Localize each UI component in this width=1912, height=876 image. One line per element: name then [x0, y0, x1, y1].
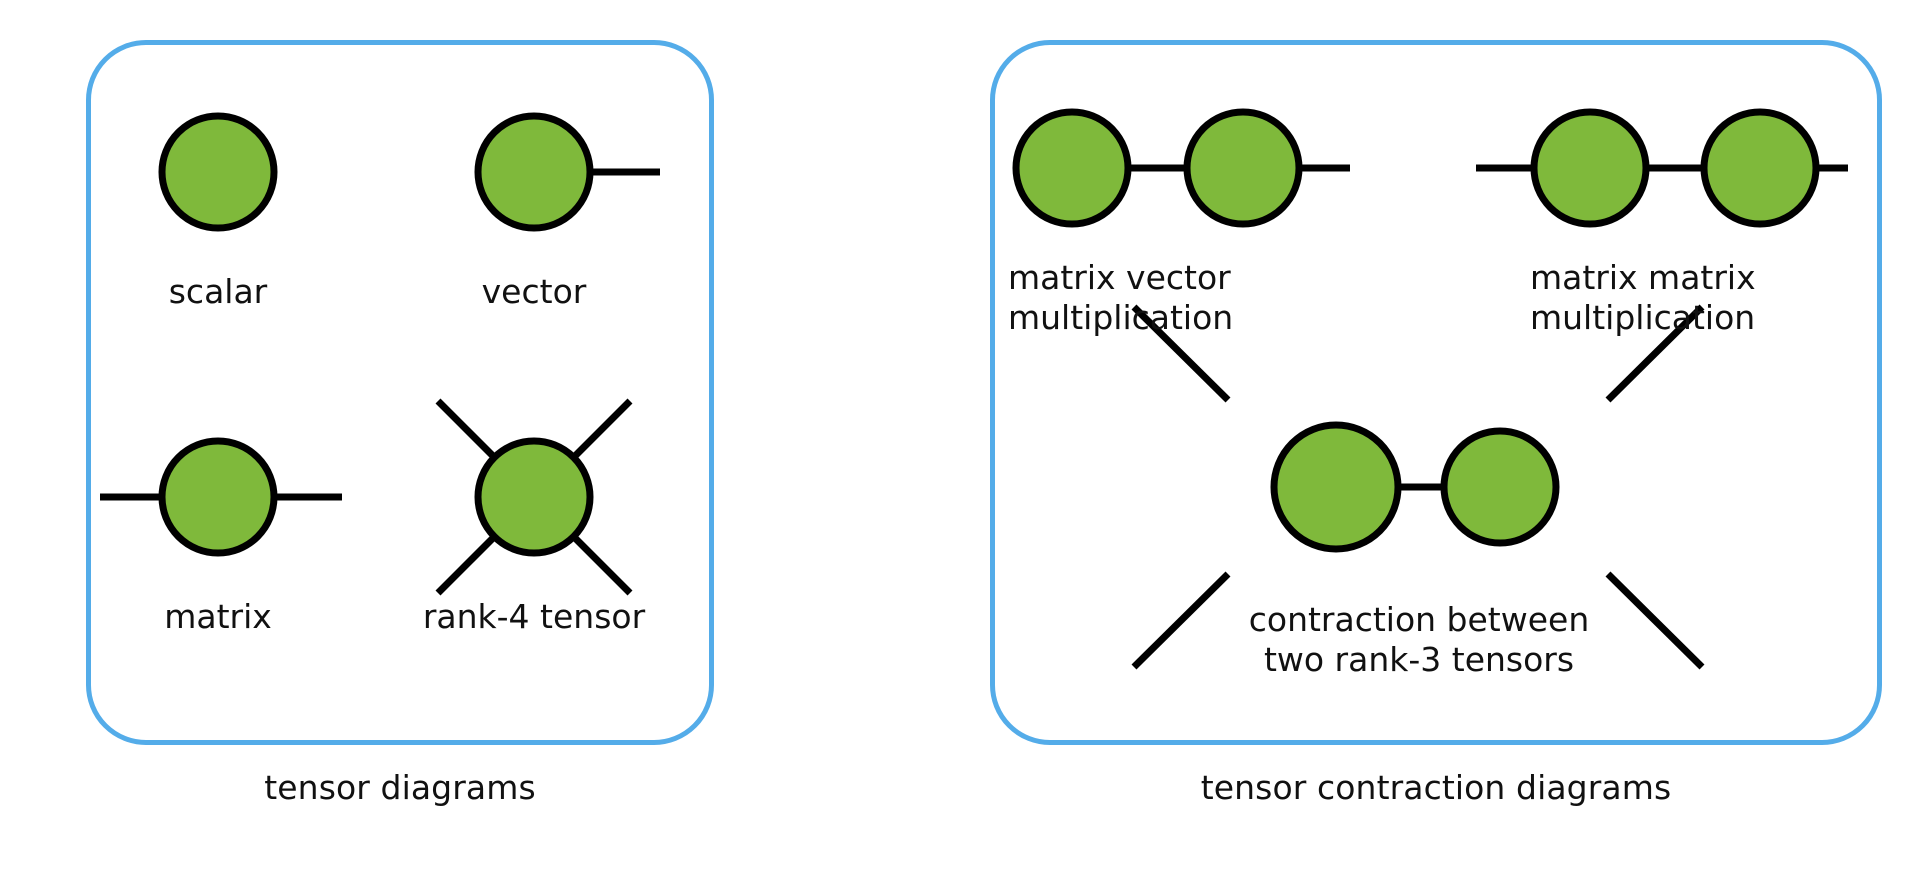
caption-tensor-contraction-diagrams: tensor contraction diagrams	[990, 768, 1882, 807]
figure-canvas: scalar vector matrix rank-4 tensor matri…	[0, 0, 1912, 876]
label-matrix-vector-multiplication: matrix vector multiplication	[1008, 258, 1308, 338]
panel-tensor-diagrams	[86, 40, 714, 745]
label-contraction-two-rank-3-tensors: contraction between two rank-3 tensors	[1184, 600, 1654, 680]
label-matrix: matrix	[68, 597, 368, 637]
label-vector: vector	[384, 272, 684, 312]
label-scalar: scalar	[68, 272, 368, 312]
caption-tensor-diagrams: tensor diagrams	[86, 768, 714, 807]
label-matrix-matrix-multiplication: matrix matrix multiplication	[1530, 258, 1860, 338]
label-rank-4-tensor: rank-4 tensor	[384, 597, 684, 637]
